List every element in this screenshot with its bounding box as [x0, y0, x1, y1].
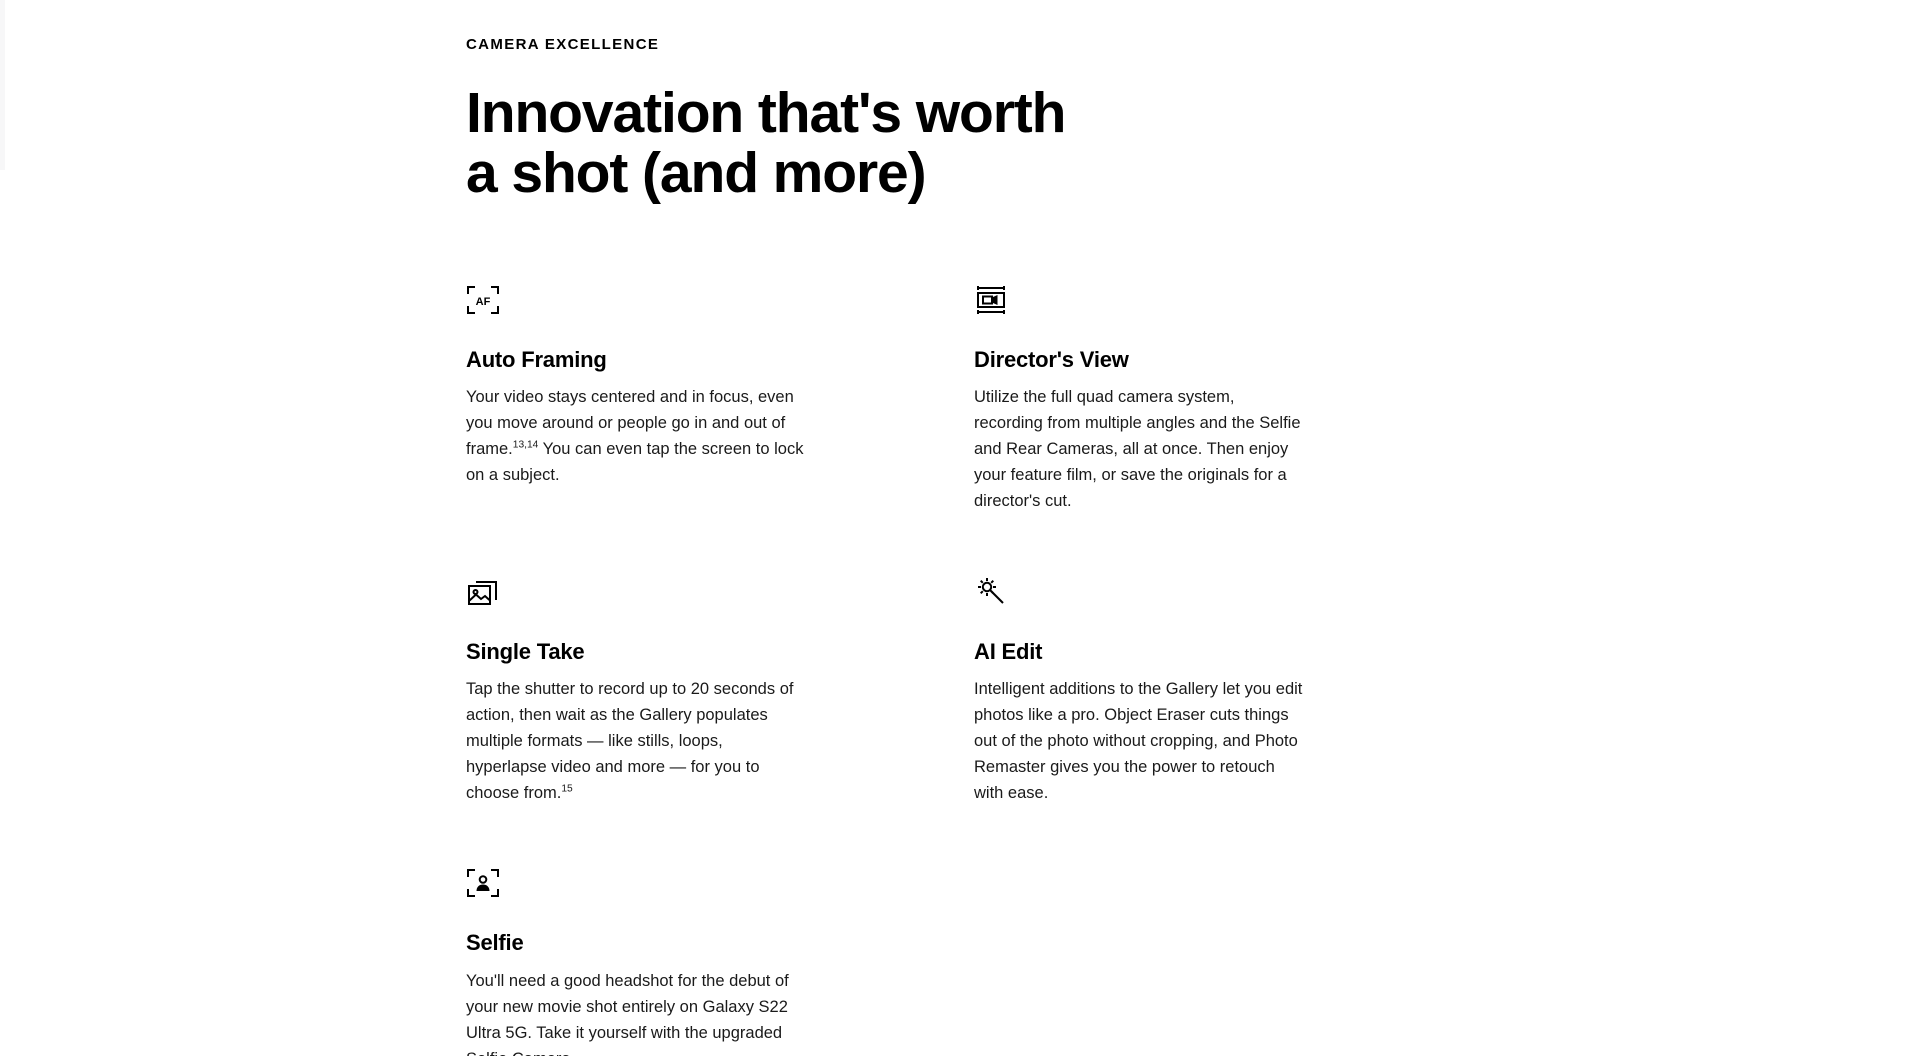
feature-card-selfie: Selfie You'll need a good headshot for t…	[466, 867, 826, 1056]
feature-card-directors-view: Director's View Utilize the full quad ca…	[974, 284, 1334, 576]
footnote-marker: 13,14	[513, 440, 539, 451]
feature-title: Selfie	[466, 907, 826, 957]
feature-grid-empty-cell	[974, 867, 1386, 1056]
feature-body-text: Intelligent additions to the Gallery let…	[974, 680, 1302, 802]
feature-body-text: Tap the shutter to record up to 20 secon…	[466, 680, 793, 802]
page-title: Innovation that's worth a shot (and more…	[466, 54, 1386, 204]
feature-body: Utilize the full quad camera system, rec…	[974, 373, 1304, 514]
auto-focus-frame-icon: AF	[466, 284, 510, 324]
feature-body: Tap the shutter to record up to 20 secon…	[466, 665, 806, 806]
section-eyebrow: CAMERA EXCELLENCE	[466, 0, 1386, 54]
footnote-marker: 15	[561, 784, 572, 795]
feature-grid: AF Auto Framing Your video stays centere…	[466, 284, 1386, 1056]
headline-line-2: a shot (and more)	[466, 144, 1386, 204]
page-root: CAMERA EXCELLENCE Innovation that's wort…	[0, 0, 1920, 1056]
feature-card-auto-framing: AF Auto Framing Your video stays centere…	[466, 284, 826, 576]
feature-card-single-take: Single Take Tap the shutter to record up…	[466, 576, 826, 868]
feature-body-text: Utilize the full quad camera system, rec…	[974, 388, 1301, 510]
feature-title: AI Edit	[974, 616, 1334, 666]
feature-title: Single Take	[466, 616, 826, 666]
selfie-person-frame-icon	[466, 867, 510, 907]
feature-body: Intelligent additions to the Gallery let…	[974, 665, 1304, 806]
feature-body: You'll need a good headshot for the debu…	[466, 957, 806, 1056]
feature-body: Your video stays centered and in focus, …	[466, 373, 806, 488]
section-content: CAMERA EXCELLENCE Innovation that's wort…	[466, 0, 1386, 1056]
headline-line-1: Innovation that's worth	[466, 84, 1386, 144]
stacked-photos-icon	[466, 576, 510, 616]
feature-card-ai-edit: AI Edit Intelligent additions to the Gal…	[974, 576, 1334, 868]
magic-wand-sparkle-icon	[974, 576, 1018, 616]
film-strip-video-icon	[974, 284, 1018, 324]
svg-text:AF: AF	[476, 296, 491, 308]
left-edge-strip	[0, 0, 5, 170]
feature-body-text: You'll need a good headshot for the debu…	[466, 972, 789, 1056]
feature-title: Director's View	[974, 324, 1334, 374]
feature-title: Auto Framing	[466, 324, 826, 374]
